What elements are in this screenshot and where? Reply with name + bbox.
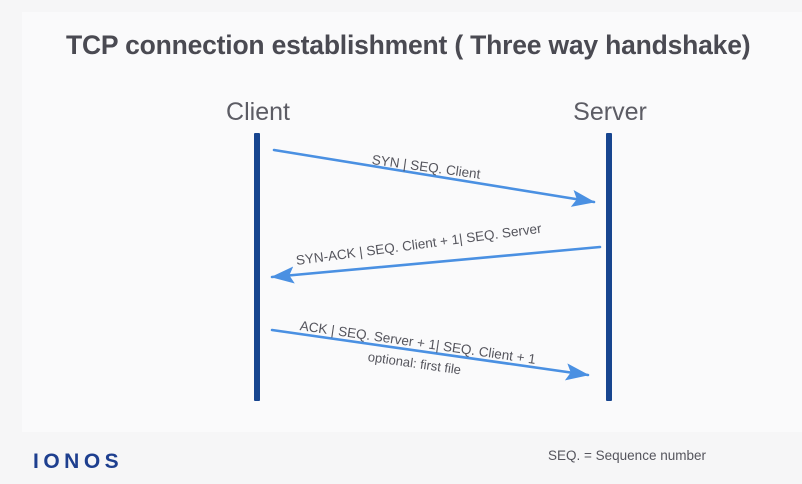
ionos-logo: IONOS: [33, 450, 123, 474]
slide-canvas: TCP connection establishment ( Three way…: [0, 0, 802, 484]
message-arrow-syn: [274, 150, 594, 202]
legend-note: SEQ. = Sequence number: [548, 448, 706, 463]
